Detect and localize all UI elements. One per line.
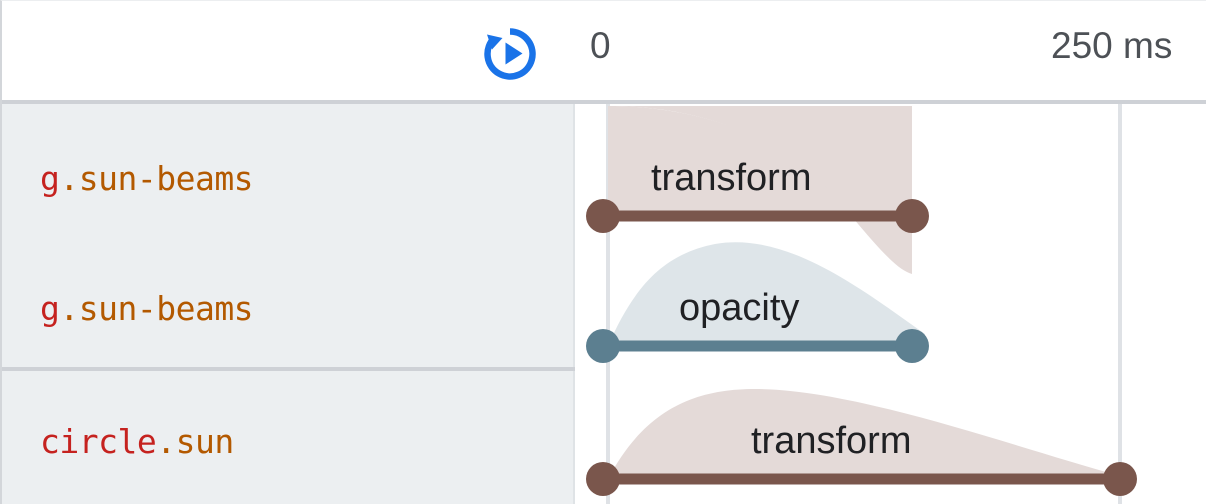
timeline-track-area[interactable]: transform opacity transform — [575, 104, 1206, 504]
property-label: transform — [651, 159, 811, 197]
selector-rest: .sun-beams — [59, 159, 253, 198]
list-item[interactable]: circle.sun — [40, 425, 234, 458]
track-transform-1 — [586, 199, 929, 233]
replay-play-icon-svg — [481, 25, 539, 83]
timeline-start-label: 0 — [590, 27, 611, 64]
timeline-header: 0 250 ms — [2, 1, 1206, 104]
selector-tag: g — [40, 289, 59, 328]
selector-tag: g — [40, 159, 59, 198]
animation-tracks-body: g.sun-beams g.sun-beams circle.sun — [2, 104, 1206, 504]
animation-inspector: 0 250 ms g.sun-beams g.sun-beams circle.… — [0, 0, 1206, 504]
list-item[interactable]: g.sun-beams — [40, 292, 253, 325]
keyframe-start-handle — [586, 199, 620, 233]
timeline-end-label: 250 ms — [1051, 27, 1172, 64]
keyframe-start-handle — [586, 329, 620, 363]
keyframe-end-handle — [895, 329, 929, 363]
property-label: opacity — [679, 289, 799, 327]
list-item[interactable]: g.sun-beams — [40, 162, 253, 195]
replay-icon[interactable] — [481, 25, 539, 83]
keyframe-end-handle — [895, 199, 929, 233]
group-separator — [2, 367, 575, 371]
track-opacity — [586, 329, 929, 363]
property-label: transform — [751, 422, 911, 460]
track-transform-2 — [586, 462, 1137, 496]
gridline-250ms — [1118, 104, 1122, 504]
keyframe-start-handle — [586, 462, 620, 496]
gridline-0ms — [606, 104, 610, 504]
selector-label-column: g.sun-beams g.sun-beams circle.sun — [2, 104, 575, 504]
selector-rest: .sun-beams — [59, 289, 253, 328]
selector-tag: circle — [40, 422, 156, 461]
selector-rest: .sun — [156, 422, 233, 461]
